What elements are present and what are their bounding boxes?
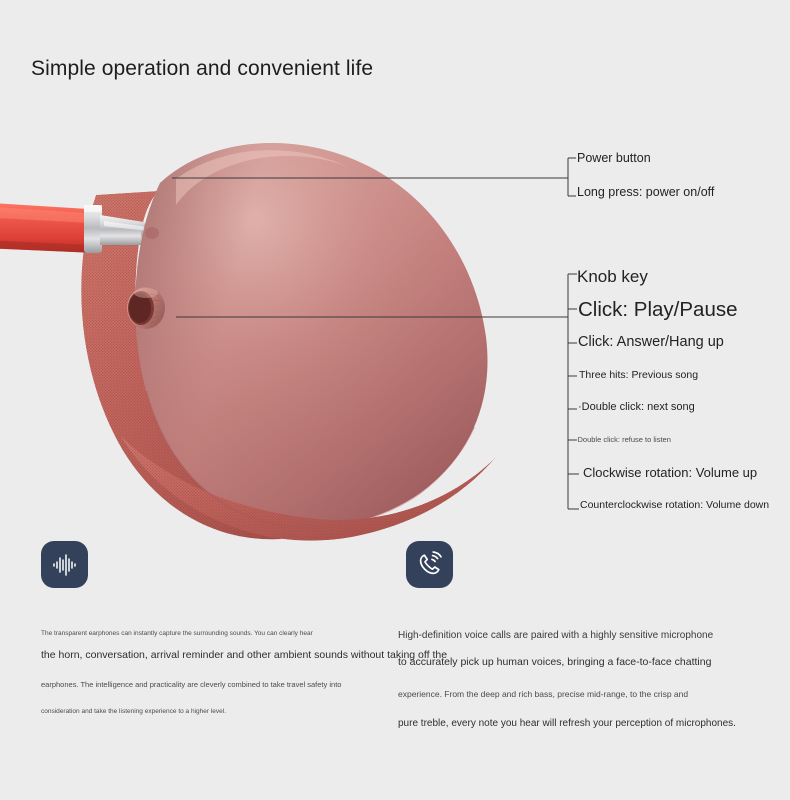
knob-key-control [127,287,165,329]
page-title: Simple operation and convenient life [31,57,373,81]
paragraph-line: pure treble, every note you hear will re… [398,709,733,739]
product-illustration [0,105,580,550]
paragraph-line: High-definition voice calls are paired w… [398,627,733,645]
callout-label-refuse-listen: ·Double click: refuse to listen [575,435,671,444]
callout-label-volume-up: Clockwise rotation: Volume up [583,465,757,480]
feature-text-ambient-sound: The transparent earphones can instantly … [41,627,371,724]
sound-wave-icon [50,550,80,580]
headband [0,201,96,253]
paragraph-line: consideration and take the listening exp… [41,699,371,724]
callout-label-next-song: ·Double click: next song [578,401,695,413]
feature-text-voice-call: High-definition voice calls are paired w… [398,627,733,739]
power-button-notch [145,227,159,239]
infographic-page: Simple operation and convenient life [0,0,790,800]
earcup [135,143,487,527]
phone-call-icon [415,550,445,580]
callout-label-long-press: Long press: power on/off [577,185,714,199]
paragraph-line: to accurately pick up human voices, brin… [398,645,733,679]
callout-label-answer-hangup: Click: Answer/Hang up [578,334,724,350]
callout-label-knob-key: Knob key [577,267,648,287]
paragraph-line: The transparent earphones can instantly … [41,627,371,640]
callout-label-power-button: Power button [577,151,651,165]
paragraph-line: earphones. The intelligence and practica… [41,671,371,699]
callout-label-previous-song: Three hits: Previous song [579,369,698,381]
feature-icon-ambient-sound [41,541,88,588]
callout-label-volume-down: Counterclockwise rotation: Volume down [580,499,769,511]
paragraph-line: the horn, conversation, arrival reminder… [41,640,371,671]
feature-icon-voice-call [406,541,453,588]
paragraph-line: experience. From the deep and rich bass,… [398,679,733,709]
callout-label-play-pause: Click: Play/Pause [578,298,738,322]
